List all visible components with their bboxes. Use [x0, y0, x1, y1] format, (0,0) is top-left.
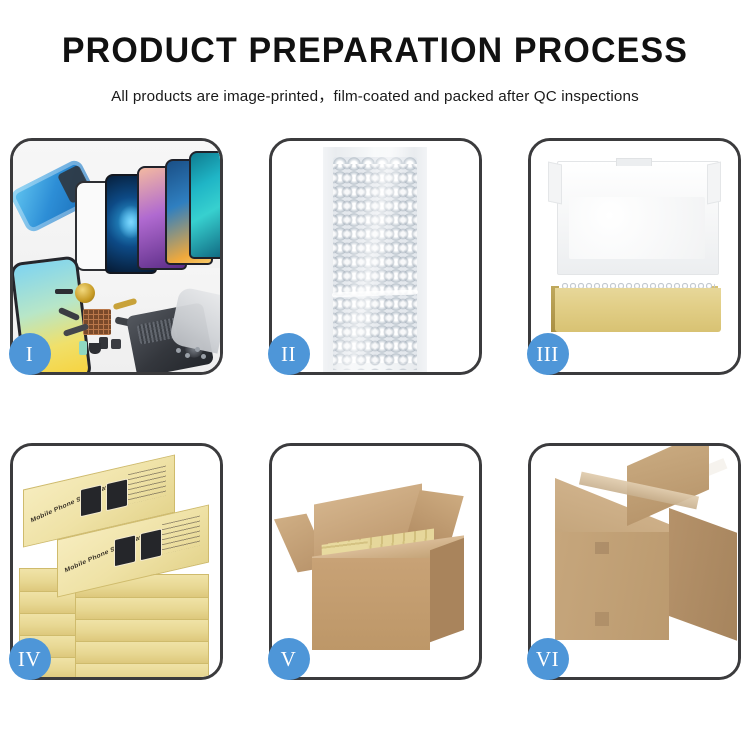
process-step-card-1[interactable]: I	[10, 138, 223, 375]
phone-screen-teal	[189, 151, 220, 259]
process-row-1: I II	[0, 138, 750, 375]
process-step-card-4[interactable]: Mobile Phone Spare Parts Mobile Phone Sp…	[10, 443, 223, 680]
tape-seal-mark-top	[595, 542, 609, 554]
mailer-lid-flap-left	[548, 162, 562, 205]
tape-seal-mark-bottom	[595, 612, 609, 626]
page-header: PRODUCT PREPARATION PROCESS All products…	[0, 0, 750, 106]
component-bar	[55, 289, 73, 294]
stacked-box	[75, 640, 209, 664]
step-badge: VI	[527, 638, 569, 680]
step-badge: IV	[9, 638, 51, 680]
stacked-box	[75, 596, 209, 620]
mailer-lid-tab	[616, 158, 652, 166]
speaker-component	[75, 283, 95, 303]
carton-front-face	[555, 532, 669, 640]
step-badge: I	[9, 333, 51, 375]
page-title: PRODUCT PREPARATION PROCESS	[11, 33, 739, 68]
screws-group	[176, 346, 206, 360]
stacked-box	[75, 662, 209, 677]
box-stack-group: Mobile Phone Spare Parts Mobile Phone Sp…	[17, 466, 220, 677]
process-step-grid: I II	[0, 138, 750, 680]
step-badge: II	[268, 333, 310, 375]
process-step-card-3[interactable]: III	[528, 138, 741, 375]
carton-right-face	[669, 508, 737, 641]
carton-side-face	[430, 538, 464, 642]
process-step-card-2[interactable]: II	[269, 138, 482, 375]
page-subtitle: All products are image-printed，film-coat…	[0, 84, 750, 106]
stacked-box	[75, 618, 209, 642]
process-step-card-5[interactable]: V	[269, 443, 482, 680]
foam-insert-shape	[569, 197, 705, 259]
mailer-lid-flap-right	[707, 162, 721, 205]
process-step-card-6[interactable]: VI	[528, 443, 741, 680]
carton-front-face	[312, 558, 430, 650]
step-badge: III	[527, 333, 569, 375]
kraft-tray-shape	[555, 288, 721, 332]
process-row-2: Mobile Phone Spare Parts Mobile Phone Sp…	[0, 443, 750, 680]
small-component-2	[111, 339, 121, 349]
chip-grid-component	[83, 309, 111, 335]
step-badge: V	[268, 638, 310, 680]
wrap-gloss-highlight	[323, 147, 427, 372]
battery-component	[79, 341, 87, 355]
camera-component	[89, 343, 101, 354]
